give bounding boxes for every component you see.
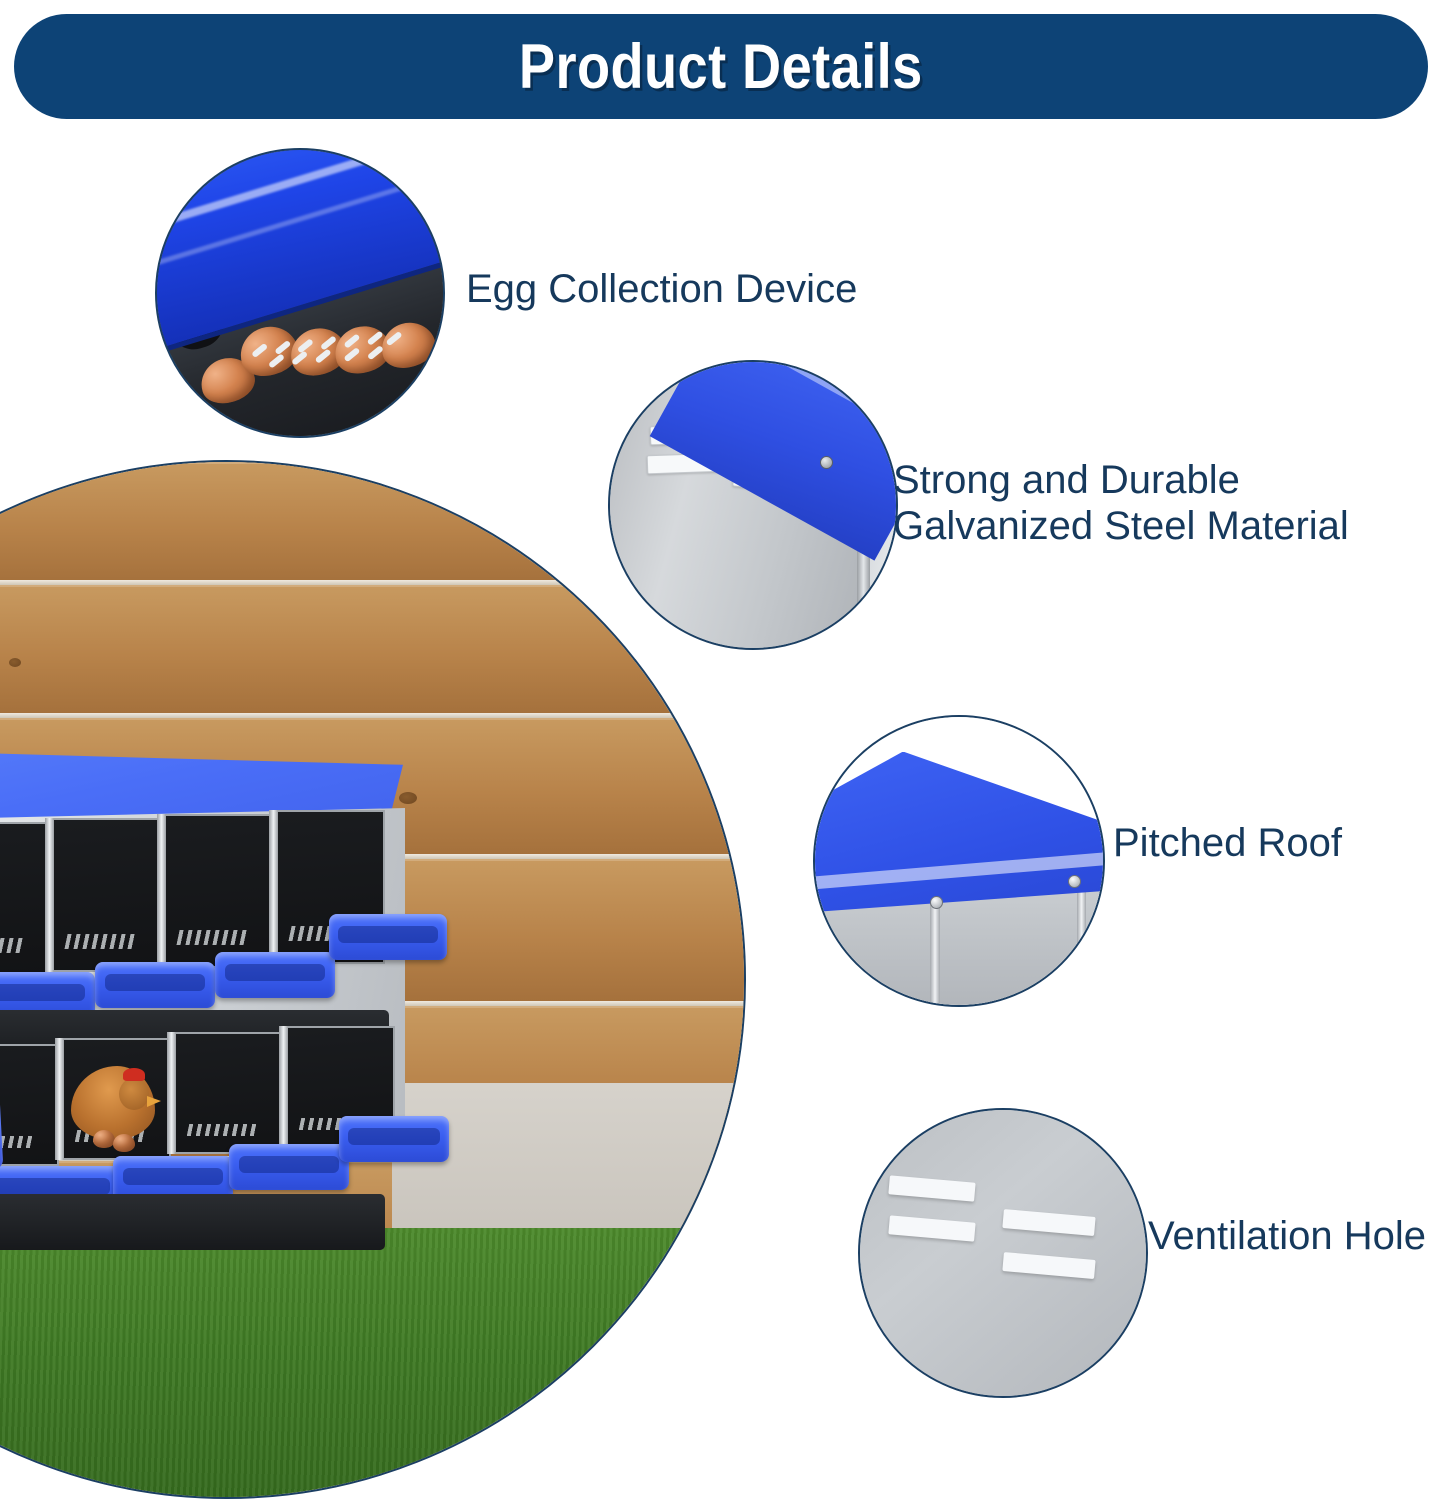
vent-slots-icon — [860, 1110, 1146, 1396]
callout-label-egg-collection-device: Egg Collection Device — [466, 266, 857, 312]
nesting-box-product — [0, 748, 427, 1228]
callout-circle-pitched-roof — [813, 715, 1105, 1007]
callout-label-pitched-roof: Pitched Roof — [1113, 820, 1342, 866]
landing-perch — [229, 1144, 349, 1190]
landing-perch — [329, 914, 447, 960]
nest-compartment — [0, 822, 49, 976]
egg-tray-icon — [157, 150, 443, 436]
chicken-lower — [63, 1048, 163, 1160]
nest-compartment — [51, 818, 161, 972]
nest-compartment — [163, 814, 273, 968]
landing-perch — [95, 962, 215, 1008]
infographic-canvas: Product Details — [0, 0, 1445, 1416]
callout-label-galvanized-steel-material: Strong and Durable Galvanized Steel Mate… — [893, 457, 1349, 550]
callout-label-ventilation-hole: Ventilation Hole — [1148, 1213, 1426, 1259]
callout-circle-galvanized-steel-material — [608, 360, 898, 650]
callout-circle-ventilation-hole — [858, 1108, 1148, 1398]
egg-roll-tray — [0, 1194, 385, 1250]
page-header-banner: Product Details — [14, 14, 1428, 119]
page-title: Product Details — [519, 31, 923, 103]
landing-perch — [215, 952, 335, 998]
steel-panel-icon — [610, 362, 896, 648]
landing-perch — [339, 1116, 449, 1162]
grass-lawn — [0, 1228, 744, 1497]
roof-icon — [815, 717, 1103, 1005]
nest-compartment — [173, 1032, 283, 1154]
callout-circle-egg-collection-device — [155, 148, 445, 438]
nest-compartment — [0, 1044, 59, 1166]
